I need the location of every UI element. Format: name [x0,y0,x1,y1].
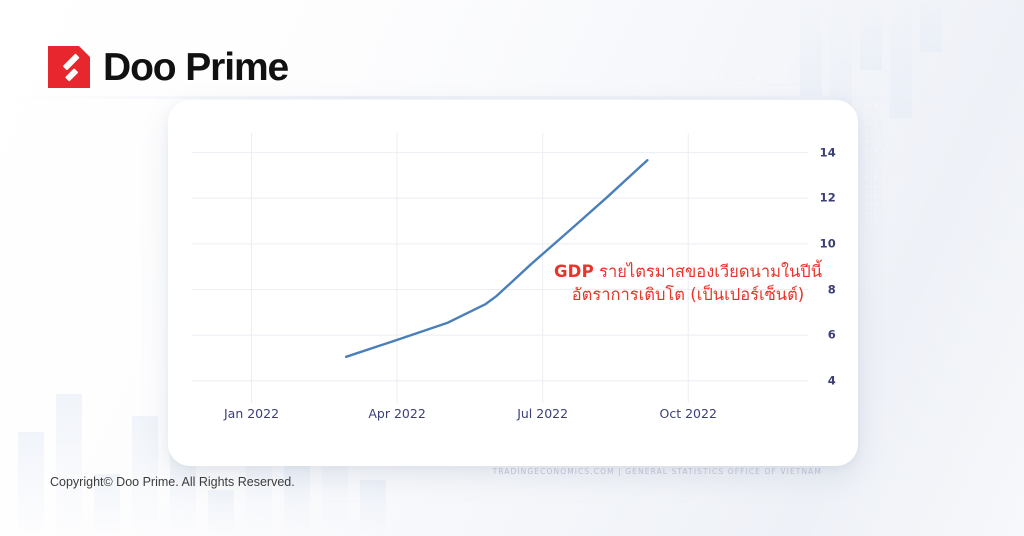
annotation-line-1-rest: รายไตรมาสของเวียดนามในปีนี้ [594,262,822,281]
gdp-growth-line [346,160,647,357]
x-axis-tick-label: Jan 2022 [224,408,279,421]
logo-stroke-lower [65,68,78,81]
x-axis-tick-label: Oct 2022 [660,408,717,421]
brand-logo: Doo Prime [48,46,288,88]
y-axis-tick-label: 10 [808,238,836,250]
brand-name: Doo Prime [103,48,288,87]
y-axis-tick-label: 4 [808,375,836,387]
annotation-line-1: GDP รายไตรมาสของเวียดนามในปีนี้ [538,260,838,283]
x-axis-tick-label: Apr 2022 [368,408,425,421]
y-axis-tick-label: 14 [808,147,836,159]
chart-plot-area: 141210864 Jan 2022Apr 2022Jul 2022Oct 20… [190,131,836,431]
logo-stroke-upper [63,53,80,70]
annotation-highlight: GDP [554,262,594,281]
page-background: Doo Prime 141210864 Jan 2022Apr 2022Jul … [0,0,1024,536]
copyright-text: Copyright© Doo Prime. All Rights Reserve… [50,476,295,489]
logo-corner-fold [79,46,90,57]
doo-prime-logo-icon [48,46,90,88]
header-divider-band [0,96,1024,99]
y-axis-tick-label: 12 [808,193,836,205]
chart-card: 141210864 Jan 2022Apr 2022Jul 2022Oct 20… [168,100,858,466]
x-axis-tick-label: Jul 2022 [517,408,568,421]
chart-annotation: GDP รายไตรมาสของเวียดนามในปีนี้ อัตราการ… [538,260,838,307]
y-axis-tick-label: 6 [808,329,836,341]
annotation-line-2: อัตราการเติบโต (เป็นเปอร์เซ็นต์) [538,283,838,306]
